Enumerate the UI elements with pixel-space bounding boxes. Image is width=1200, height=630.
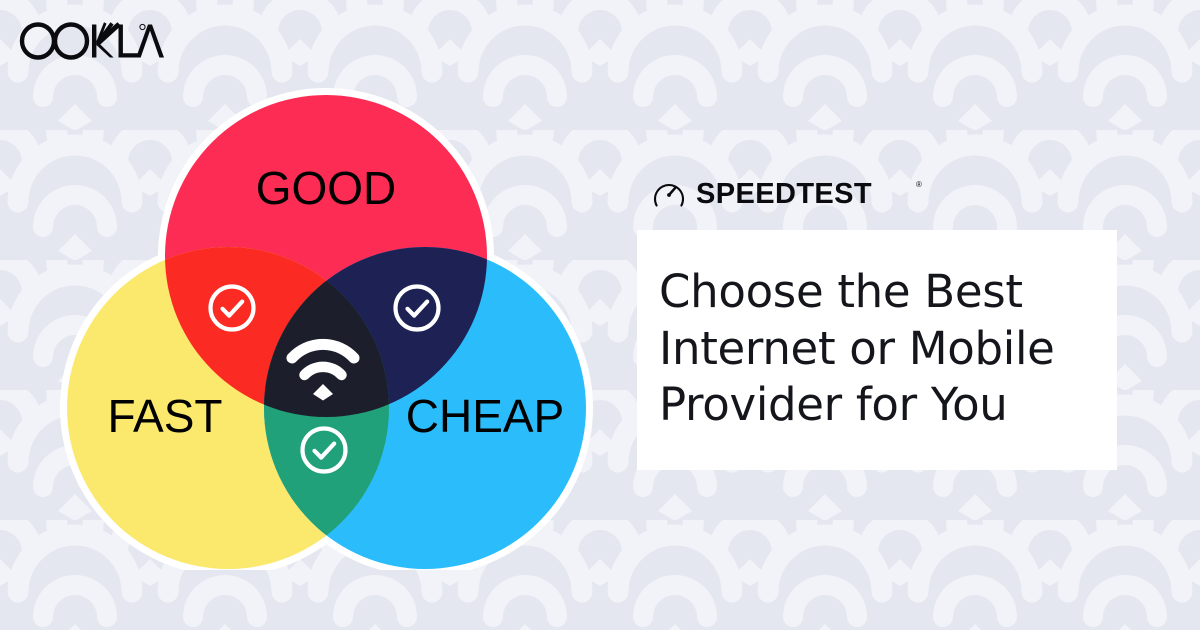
ookla-logo: [14, 14, 164, 66]
venn-label-good: GOOD: [256, 162, 397, 214]
speedtest-wordmark: SPEEDTEST: [696, 178, 872, 210]
speedtest-logo: SPEEDTEST ®: [651, 175, 929, 211]
registered-trademark-symbol: ®: [916, 180, 922, 189]
right-content-column: SPEEDTEST ® Choose the Best Internet or …: [637, 175, 1119, 470]
venn-label-fast: FAST: [107, 390, 222, 442]
page-title: Choose the Best Internet or Mobile Provi…: [659, 264, 1087, 434]
venn-label-cheap: CHEAP: [406, 390, 564, 442]
screenshot-canvas: GOOD FAST CHEAP: [0, 0, 1200, 630]
venn-diagram: GOOD FAST CHEAP: [50, 60, 610, 570]
speedometer-icon: [655, 185, 683, 205]
headline-panel: Choose the Best Internet or Mobile Provi…: [637, 230, 1117, 470]
